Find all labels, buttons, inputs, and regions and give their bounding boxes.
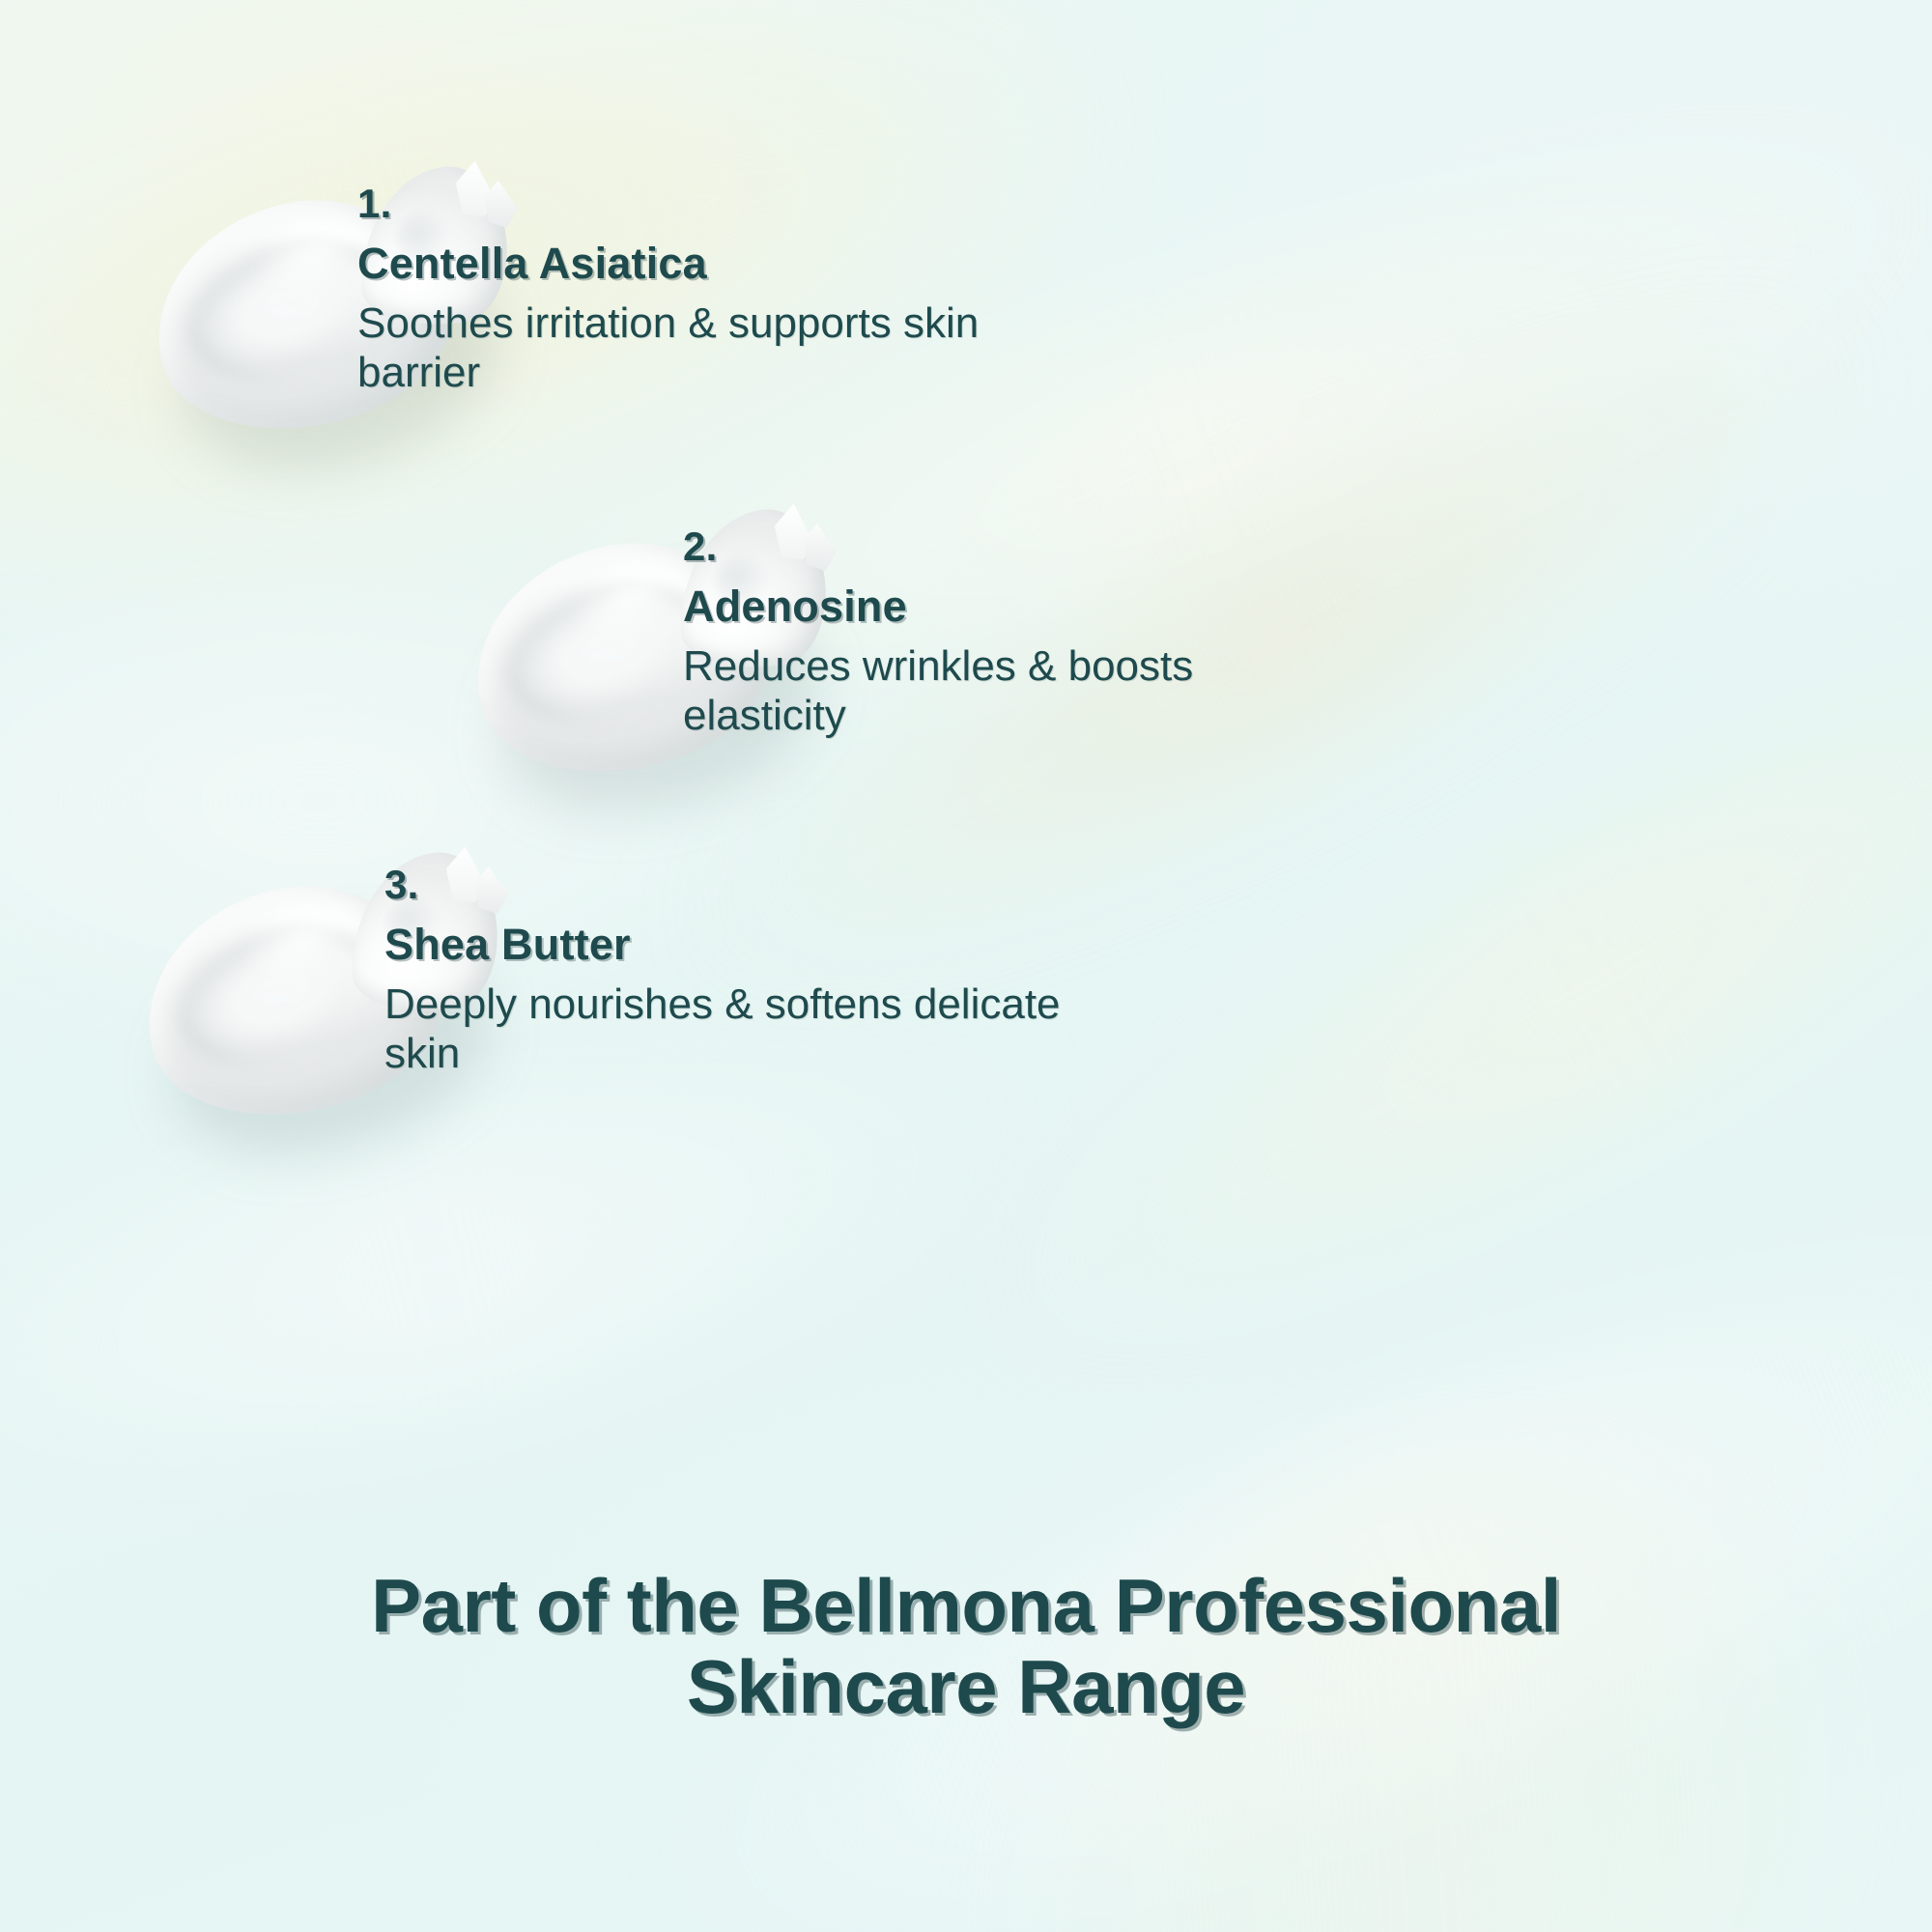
ingredient-item-1: 1. Centella Asiatica Soothes irritation … [357, 184, 1092, 397]
footer-headline-line-1: Part of the Bellmona Professional [116, 1565, 1816, 1646]
ingredient-number: 1. [357, 184, 1092, 224]
ingredient-number: 3. [384, 865, 1119, 905]
footer-headline: Part of the Bellmona Professional Skinca… [0, 1565, 1932, 1727]
ingredient-description: Soothes irritation & supports skin barri… [357, 298, 1034, 397]
ingredient-name: Centella Asiatica [357, 241, 1092, 285]
ingredient-item-2: 2. Adenosine Reduces wrinkles & boosts e… [683, 526, 1417, 740]
footer-headline-line-2: Skincare Range [116, 1646, 1816, 1727]
ingredient-name: Adenosine [683, 584, 1417, 628]
poster-canvas: 1. Centella Asiatica Soothes irritation … [0, 0, 1932, 1932]
ingredient-description: Deeply nourishes & softens delicate skin [384, 980, 1061, 1078]
ingredient-item-3: 3. Shea Butter Deeply nourishes & soften… [384, 865, 1119, 1078]
ingredient-number: 2. [683, 526, 1417, 567]
ingredient-description: Reduces wrinkles & boosts elasticity [683, 641, 1359, 740]
ingredient-name: Shea Butter [384, 923, 1119, 966]
